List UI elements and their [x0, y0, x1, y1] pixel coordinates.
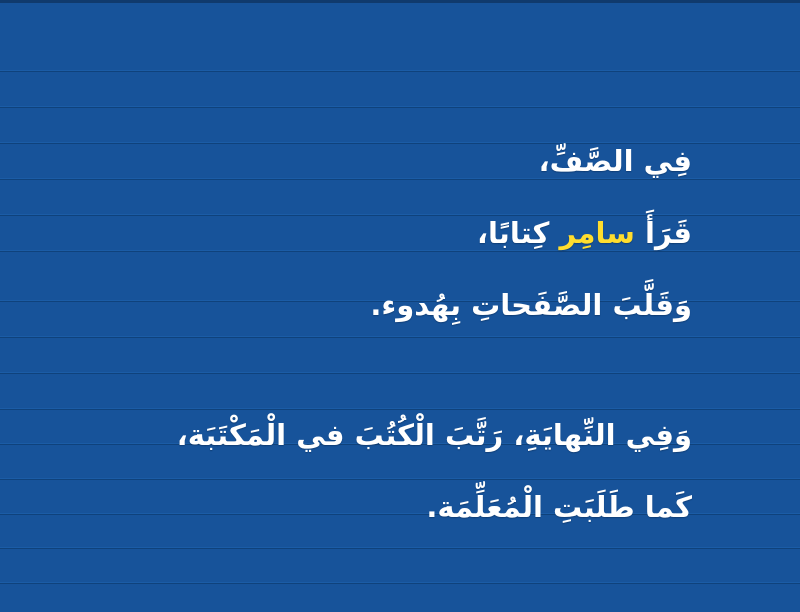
- passage-line-4: وَفِي النِّهايَةِ، رَتَّبَ الْكُتُبَ في …: [52, 399, 692, 471]
- passage-line-1: فِي الصَّفِّ،: [52, 125, 692, 197]
- paragraph-1: فِي الصَّفِّ، قَرَأَ سامِر كِتابًا، وَقَ…: [52, 125, 692, 341]
- paragraph-2: وَفِي النِّهايَةِ، رَتَّبَ الْكُتُبَ في …: [52, 399, 692, 543]
- passage-line-5: كَما طَلَبَتِ الْمُعَلِّمَة.: [52, 471, 692, 543]
- passage-text: فِي الصَّفِّ، قَرَأَ سامِر كِتابًا، وَقَ…: [0, 0, 800, 612]
- passage-line-2: قَرَأَ سامِر كِتابًا،: [52, 197, 692, 269]
- highlighted-word-samir: سامِر: [560, 216, 635, 250]
- notebook-page: فِي الصَّفِّ، قَرَأَ سامِر كِتابًا، وَقَ…: [0, 0, 800, 612]
- passage-line-3: وَقَلَّبَ الصَّفَحاتِ بِهُدوء.: [52, 269, 692, 341]
- line-2-before: قَرَأَ: [635, 216, 692, 250]
- line-2-after: كِتابًا،: [477, 216, 559, 250]
